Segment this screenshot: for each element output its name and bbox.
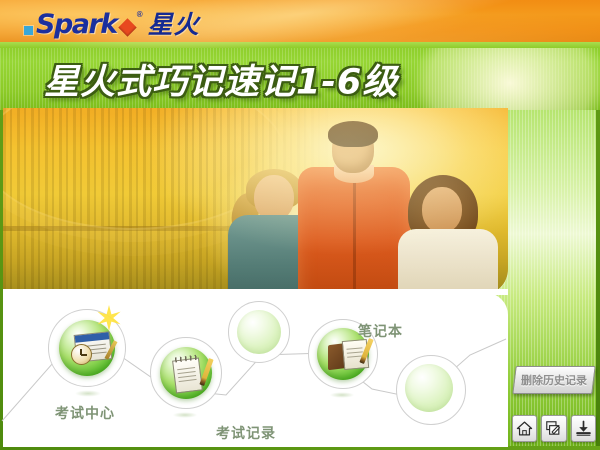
node-orb <box>59 320 115 376</box>
hero-image <box>3 108 508 295</box>
home-button[interactable] <box>512 415 537 442</box>
download-icon <box>575 420 592 437</box>
nav-label-exam-center: 考试中心 <box>55 403 115 423</box>
logo-diamond-icon <box>118 18 136 36</box>
nav-node-exam-records[interactable] <box>150 337 222 409</box>
book-pencil-icon <box>328 340 366 370</box>
logo-square-mark <box>24 26 33 35</box>
student-center-figure <box>294 125 412 295</box>
nav-label-exam-records: 考试记录 <box>216 423 276 443</box>
title-banner: 星火式巧记速记1-6级 <box>0 48 600 110</box>
download-button[interactable] <box>571 415 596 442</box>
nav-node-empty-2[interactable] <box>396 355 466 425</box>
delete-history-label: 删除历史记录 <box>521 372 587 388</box>
register-icon <box>545 420 562 437</box>
sidebar-tool-row <box>512 415 596 441</box>
nav-node-exam-center[interactable] <box>48 309 126 387</box>
delete-history-button[interactable]: 删除历史记录 <box>512 366 595 394</box>
student-right-figure <box>396 183 500 295</box>
register-button[interactable] <box>541 415 566 442</box>
spark-logo[interactable]: Spark ® 星火 <box>24 6 200 42</box>
exam-clock-icon <box>73 333 111 363</box>
node-orb <box>405 364 453 412</box>
logo-chinese-text: 星火 <box>148 12 200 37</box>
node-shadow <box>325 391 359 399</box>
node-orb <box>160 347 212 399</box>
node-shadow <box>70 389 106 398</box>
page-title: 星火式巧记速记1-6级 <box>44 54 398 105</box>
node-shadow <box>168 411 202 419</box>
app-header: Spark ® 星火 <box>0 0 600 48</box>
logo-latin-text: Spark <box>36 11 117 38</box>
application-window: Spark ® 星火 星火式巧记速记1-6级 <box>0 0 600 450</box>
logo-registered-mark: ® <box>137 10 143 19</box>
node-orb <box>237 310 281 354</box>
notepad-pencil-icon <box>174 357 208 391</box>
navigation-map: 考试中心 考试记录 笔记本 <box>0 293 508 450</box>
nav-node-empty-1[interactable] <box>228 301 290 363</box>
nav-label-notebook: 笔记本 <box>358 321 403 341</box>
home-icon <box>516 420 533 437</box>
hero-photo-backdrop <box>3 108 508 295</box>
